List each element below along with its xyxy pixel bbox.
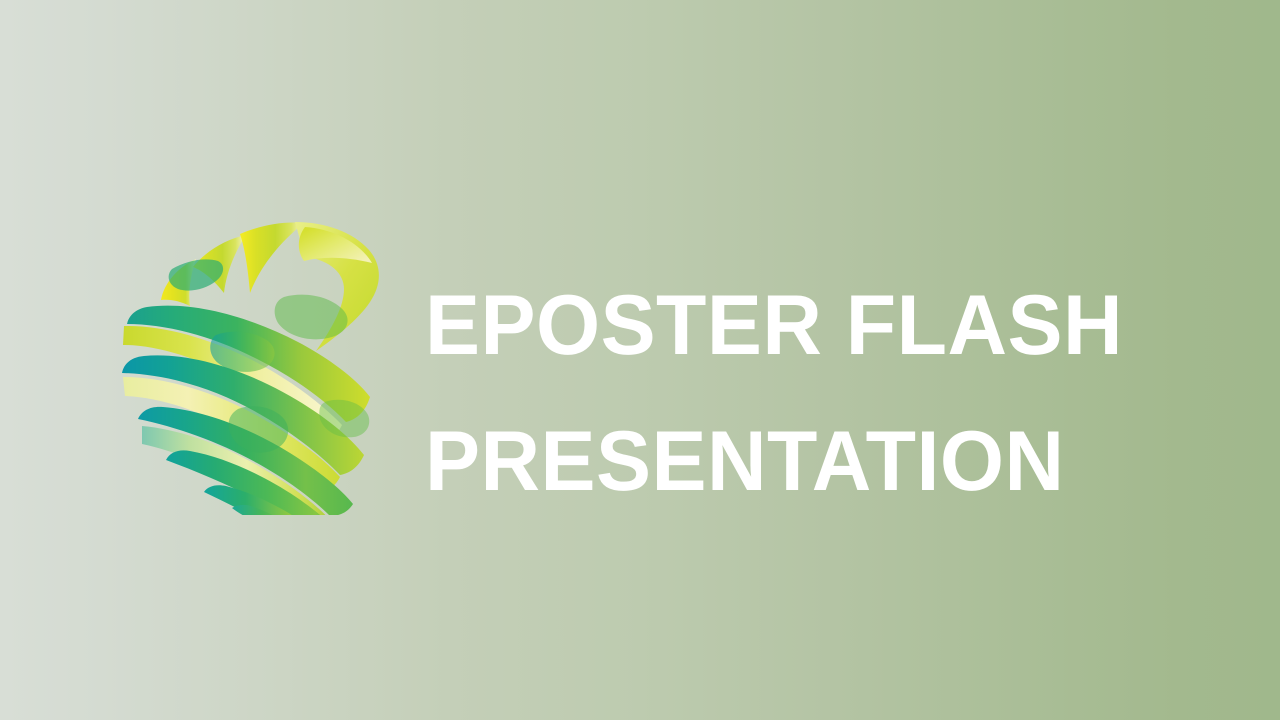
title-line-1: EPOSTER FLASH	[425, 258, 1201, 394]
globe-ribbon-logo	[120, 205, 404, 515]
continent-north	[169, 259, 223, 290]
title-line-2: PRESENTATION	[425, 394, 1201, 530]
slide-canvas: EPOSTER FLASH PRESENTATION	[0, 0, 1280, 720]
continent-asia	[275, 295, 348, 340]
globe-ribbon-logo-svg	[120, 205, 404, 515]
ribbon-band-3	[240, 222, 304, 293]
slide-title: EPOSTER FLASH PRESENTATION	[425, 258, 1225, 530]
